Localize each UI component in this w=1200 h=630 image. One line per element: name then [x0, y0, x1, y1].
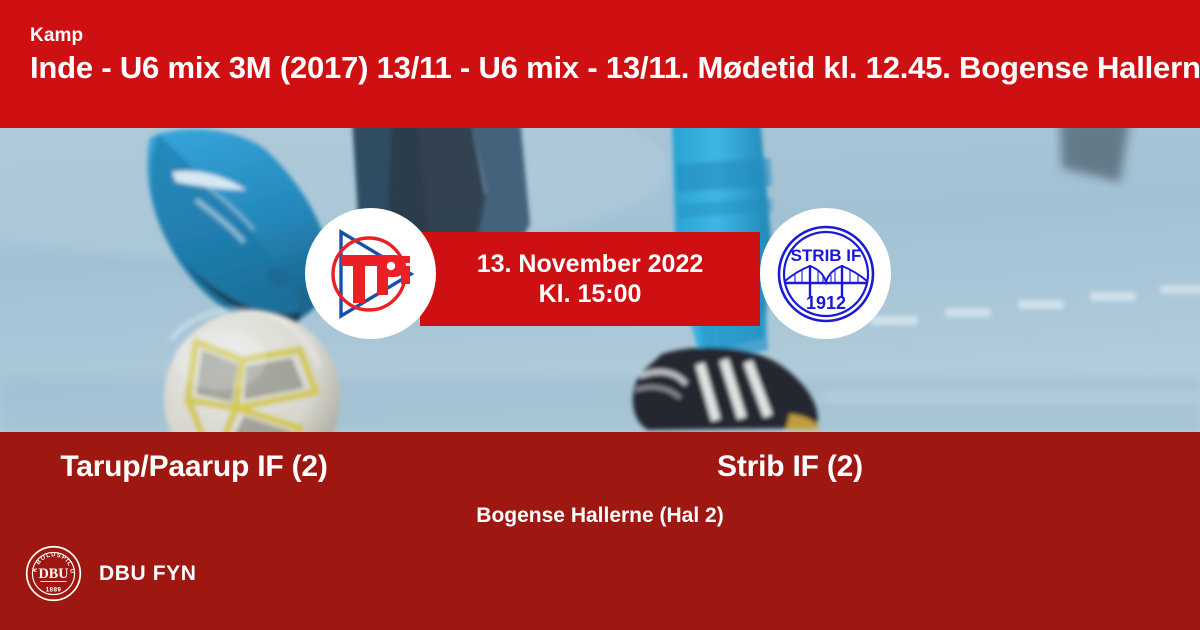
- match-date: 13. November 2022: [477, 249, 704, 280]
- dbu-seal-icon: DANSK BOLDSPIL UNION DBU 1889: [25, 545, 82, 602]
- tarup-paarup-if-logo-icon: [319, 222, 423, 326]
- match-time: Kl. 15:00: [539, 279, 642, 310]
- away-team-logo: STRIB IF 1912: [760, 208, 891, 339]
- home-team-logo: [305, 208, 436, 339]
- page-title: Inde - U6 mix 3M (2017) 13/11 - U6 mix -…: [30, 50, 1200, 86]
- kamp-label: Kamp: [30, 25, 83, 47]
- strib-if-logo-year: 1912: [805, 293, 845, 313]
- match-card: Kamp Inde - U6 mix 3M (2017) 13/11 - U6 …: [0, 0, 1200, 630]
- teams-row: Tarup/Paarup IF (2) Strib IF (2): [0, 450, 1200, 484]
- dbu-seal-year-text: 1889: [46, 587, 62, 594]
- header-band: Kamp Inde - U6 mix 3M (2017) 13/11 - U6 …: [0, 0, 1200, 128]
- away-team-name: Strib IF (2): [600, 450, 1200, 484]
- strib-if-logo-title: STRIB IF: [790, 246, 861, 265]
- strib-if-logo-icon: STRIB IF 1912: [773, 221, 879, 327]
- home-team-name: Tarup/Paarup IF (2): [0, 450, 600, 484]
- footer: DANSK BOLDSPIL UNION DBU 1889 DBU FYN: [25, 545, 197, 602]
- venue-name: Bogense Hallerne (Hal 2): [0, 504, 1200, 528]
- dbu-seal-center-text: DBU: [38, 566, 68, 582]
- match-datetime-banner: 13. November 2022 Kl. 15:00: [420, 232, 760, 326]
- footer-organisation: DBU FYN: [99, 562, 197, 586]
